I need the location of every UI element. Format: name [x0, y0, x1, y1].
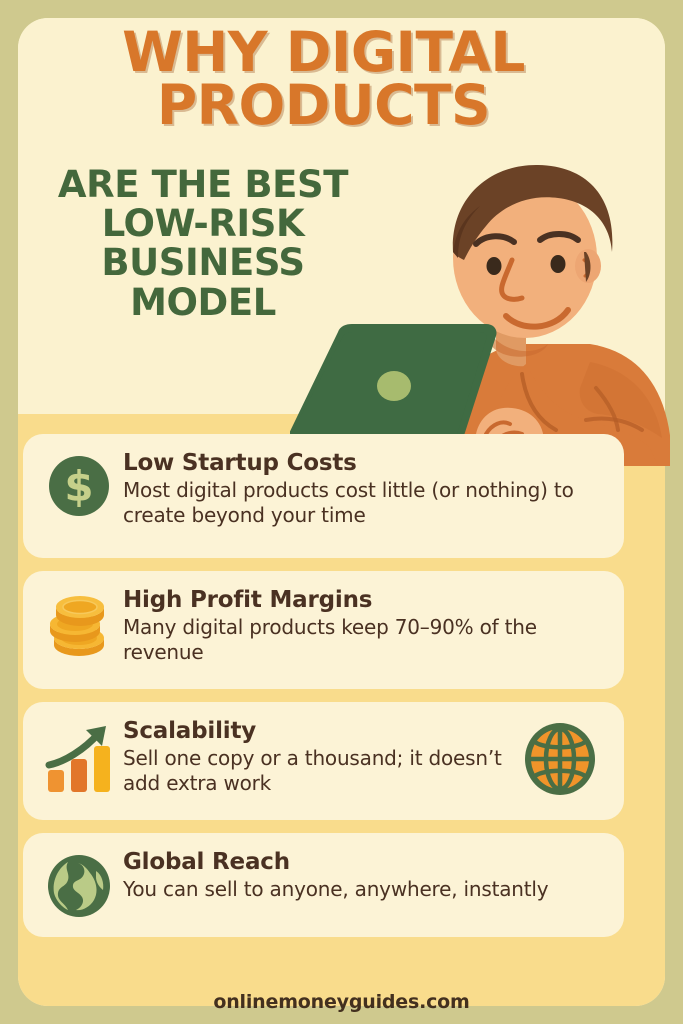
subheadline-line-4: MODEL	[38, 283, 368, 322]
card-description: Many digital products keep 70–90% of the…	[123, 615, 606, 665]
earth-globe-icon	[41, 847, 117, 919]
growth-bar-chart-icon	[41, 716, 117, 794]
benefit-card-low-startup-costs[interactable]: $ Low Startup Costs Most digital product…	[23, 434, 624, 558]
subheadline-line-1: ARE THE BEST	[38, 165, 368, 204]
stacked-coins-icon	[41, 585, 117, 663]
website-url[interactable]: onlinemoneyguides.com	[213, 991, 469, 1013]
card-description: Most digital products cost little (or no…	[123, 478, 606, 528]
card-title: High Profit Margins	[123, 587, 606, 613]
card-description: Sell one copy or a thousand; it doesn’t …	[123, 746, 514, 796]
subheadline-line-2: LOW-RISK	[38, 204, 368, 243]
globe-grid-icon	[522, 721, 598, 801]
svg-text:$: $	[64, 462, 93, 511]
card-title: Global Reach	[123, 849, 606, 875]
benefit-card-list: $ Low Startup Costs Most digital product…	[23, 434, 624, 950]
benefit-card-global-reach[interactable]: Global Reach You can sell to anyone, any…	[23, 833, 624, 937]
card-body: High Profit Margins Many digital product…	[117, 585, 606, 665]
footer: onlinemoneyguides.com	[0, 991, 683, 1013]
benefit-card-high-profit-margins[interactable]: High Profit Margins Many digital product…	[23, 571, 624, 689]
infographic-poster: WHY DIGITAL PRODUCTS ARE THE BEST LOW-RI…	[0, 0, 683, 1024]
card-title: Low Startup Costs	[123, 450, 606, 476]
card-title: Scalability	[123, 718, 514, 744]
subheadline-block: ARE THE BEST LOW-RISK BUSINESS MODEL	[38, 165, 368, 322]
card-description: You can sell to anyone, anywhere, instan…	[123, 877, 606, 902]
card-body: Scalability Sell one copy or a thousand;…	[117, 716, 514, 796]
card-aside	[514, 721, 606, 801]
benefit-card-scalability[interactable]: Scalability Sell one copy or a thousand;…	[23, 702, 624, 820]
subheadline-line-3: BUSINESS	[38, 243, 368, 282]
card-body: Low Startup Costs Most digital products …	[117, 448, 606, 528]
dollar-sign-circle-icon: $	[41, 448, 117, 518]
card-body: Global Reach You can sell to anyone, any…	[117, 847, 606, 902]
